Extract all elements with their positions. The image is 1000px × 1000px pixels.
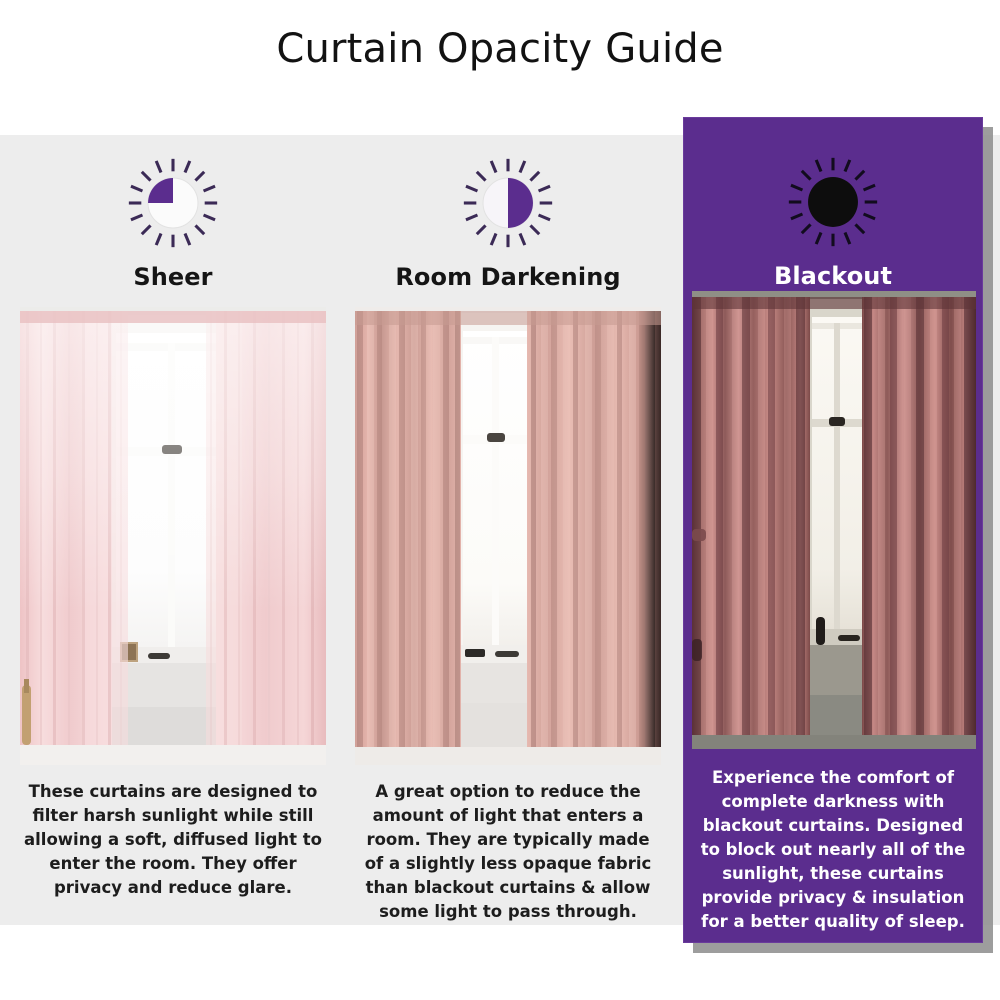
column-sheer[interactable]: Sheer: [8, 135, 338, 925]
column-room-darkening[interactable]: Room Darkening: [343, 135, 673, 925]
photo-blackout: [692, 291, 976, 749]
photo-sheer: [20, 307, 326, 765]
photo-room-darkening: [355, 307, 661, 765]
page-title: Curtain Opacity Guide: [0, 26, 1000, 72]
column-heading-room-darkening: Room Darkening: [343, 263, 673, 291]
sun-half-filled-icon: [343, 153, 673, 253]
description-room-darkening: A great option to reduce the amount of l…: [359, 780, 657, 924]
comparison-board: Sheer: [0, 135, 1000, 925]
sun-quarter-filled-icon: [8, 153, 338, 253]
column-blackout[interactable]: Blackout: [683, 117, 983, 943]
column-heading-sheer: Sheer: [8, 263, 338, 291]
description-sheer: These curtains are designed to filter ha…: [24, 780, 322, 900]
column-heading-blackout: Blackout: [684, 262, 982, 290]
sun-fully-filled-icon: [684, 152, 982, 252]
description-blackout: Experience the comfort of complete darkn…: [696, 766, 970, 933]
curtain-opacity-guide-infographic: Curtain Opacity Guide: [0, 0, 1000, 1000]
